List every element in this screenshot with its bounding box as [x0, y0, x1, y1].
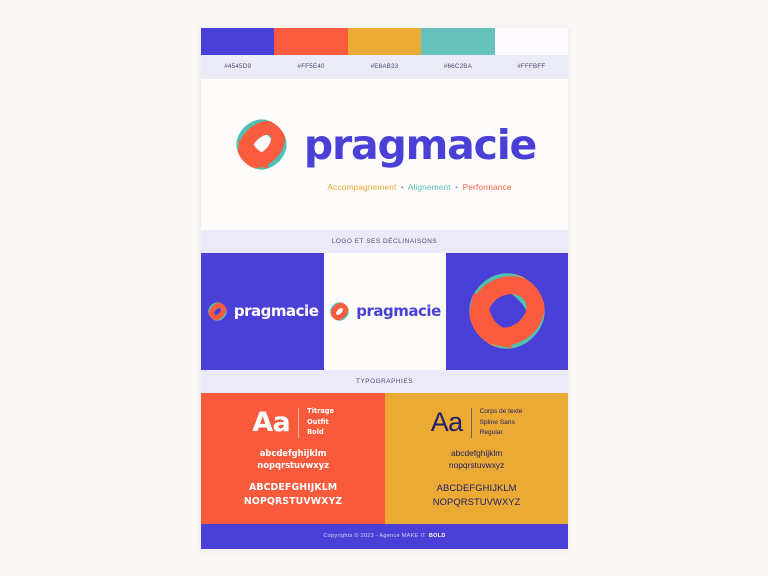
- specimen-lower-line2-body: nopqrstuvwxyz: [449, 459, 504, 471]
- specimen-upper-line2-body: NOPQRSTUVWXYZ: [433, 495, 521, 509]
- typography-panel-body: Aa Corps de texte Spline Sans Regular ab…: [385, 393, 568, 524]
- logo-variant-wordmark-white: pragmacie: [234, 304, 318, 319]
- logo-variant-on-blue: pragmacie: [201, 253, 324, 370]
- typography-sample-aa-heading: Aa: [252, 409, 290, 436]
- tagline-separator-2: •: [453, 182, 460, 192]
- color-swatch-teal: [421, 28, 494, 55]
- page-footer: Copyrights © 2023 - Agence MAKE IT BOLD: [201, 524, 568, 549]
- tagline-alignement: Alignement: [408, 182, 451, 192]
- typography-meta-heading: Titrage Outfit Bold: [307, 407, 334, 438]
- typography-specimen-lowercase-heading: abcdefghijklm nopqrstuvwxyz: [257, 447, 329, 471]
- typography-specimen-uppercase-body: ABCDEFGHIJKLM NOPQRSTUVWXYZ: [433, 481, 521, 508]
- pragmacie-ring-logo-icon-small-purple: [329, 301, 350, 322]
- typography-divider-heading: [298, 408, 299, 438]
- typography-family-body: Spline Sans: [480, 418, 523, 428]
- typography-divider-body: [471, 408, 472, 438]
- logo-variant-on-white: pragmacie: [324, 253, 445, 370]
- specimen-upper-line1-heading: ABCDEFGHIJKLM: [244, 481, 342, 495]
- color-hex-label-coral: #FF5E40: [274, 63, 347, 70]
- typography-heading-header: Aa Titrage Outfit Bold: [252, 407, 334, 438]
- color-swatch-blue: [201, 28, 274, 55]
- hero-tagline: Accompagnement • Alignement • Performanc…: [327, 182, 511, 192]
- color-hex-label-yellow: #E8AB33: [348, 63, 421, 70]
- specimen-lower-line1-heading: abcdefghijklm: [257, 447, 329, 459]
- typography-weight-body: Regular: [480, 428, 523, 438]
- lockup-white: pragmacie: [207, 301, 318, 322]
- section-header-logo-label: LOGO ET SES DÉCLINAISONS: [332, 238, 437, 245]
- section-header-typography: TYPOGRAPHIES: [201, 370, 568, 393]
- typography-sample-aa-body: Aa: [431, 409, 463, 436]
- color-swatch-white: [495, 28, 568, 55]
- hero-lockup: pragmacie: [233, 116, 536, 173]
- color-hex-label-blue: #4545D9: [201, 63, 274, 70]
- pragmacie-ring-logo-icon-large: [466, 270, 548, 352]
- hero-wordmark: pragmacie: [304, 125, 536, 166]
- footer-copyright-text: Copyrights © 2023 - Agence MAKE IT: [323, 533, 425, 539]
- lockup-purple: pragmacie: [329, 301, 440, 322]
- typography-row: Aa Titrage Outfit Bold abcdefghijklm nop…: [201, 393, 568, 524]
- specimen-upper-line1-body: ABCDEFGHIJKLM: [433, 481, 521, 495]
- typography-panel-heading: Aa Titrage Outfit Bold abcdefghijklm nop…: [201, 393, 385, 524]
- tagline-accompagnement: Accompagnement: [327, 182, 396, 192]
- typography-body-header: Aa Corps de texte Spline Sans Regular: [431, 407, 523, 438]
- section-header-logo: LOGO ET SES DÉCLINAISONS: [201, 230, 568, 253]
- color-palette-swatches: [201, 28, 568, 55]
- pragmacie-ring-logo-icon: [233, 116, 290, 173]
- typography-specimen-uppercase-heading: ABCDEFGHIJKLM NOPQRSTUVWXYZ: [244, 481, 342, 508]
- footer-brand-bold: BOLD: [429, 533, 446, 539]
- tagline-separator-1: •: [399, 182, 406, 192]
- color-palette-labels: #4545D9 #FF5E40 #E8AB33 #66C2BA #FFFBFF: [201, 55, 568, 79]
- typography-meta-body: Corps de texte Spline Sans Regular: [480, 407, 523, 438]
- specimen-upper-line2-heading: NOPQRSTUVWXYZ: [244, 495, 342, 509]
- specimen-lower-line1-body: abcdefghijklm: [449, 447, 504, 459]
- logo-variant-mark-only: [446, 253, 568, 370]
- typography-usage-heading: Titrage: [307, 407, 334, 417]
- color-hex-label-white: #FFFBFF: [495, 63, 568, 70]
- color-swatch-coral: [274, 28, 347, 55]
- section-header-typography-label: TYPOGRAPHIES: [356, 378, 413, 385]
- typography-family-heading: Outfit: [307, 418, 334, 428]
- logo-variants-row: pragmacie: [201, 253, 568, 370]
- color-hex-label-teal: #66C2BA: [421, 63, 494, 70]
- specimen-lower-line2-heading: nopqrstuvwxyz: [257, 459, 329, 471]
- typography-specimen-lowercase-body: abcdefghijklm nopqrstuvwxyz: [449, 447, 504, 471]
- logo-variant-wordmark-purple: pragmacie: [356, 304, 440, 319]
- tagline-performance: Performance: [463, 182, 512, 192]
- pragmacie-ring-logo-icon-small-white: [207, 301, 228, 322]
- hero-logo-section: pragmacie Accompagnement • Alignement • …: [201, 79, 568, 230]
- brand-guideline-sheet: #4545D9 #FF5E40 #E8AB33 #66C2BA #FFFBFF: [201, 28, 568, 549]
- typography-weight-heading: Bold: [307, 428, 334, 438]
- color-swatch-yellow: [348, 28, 421, 55]
- typography-usage-body: Corps de texte: [480, 407, 523, 417]
